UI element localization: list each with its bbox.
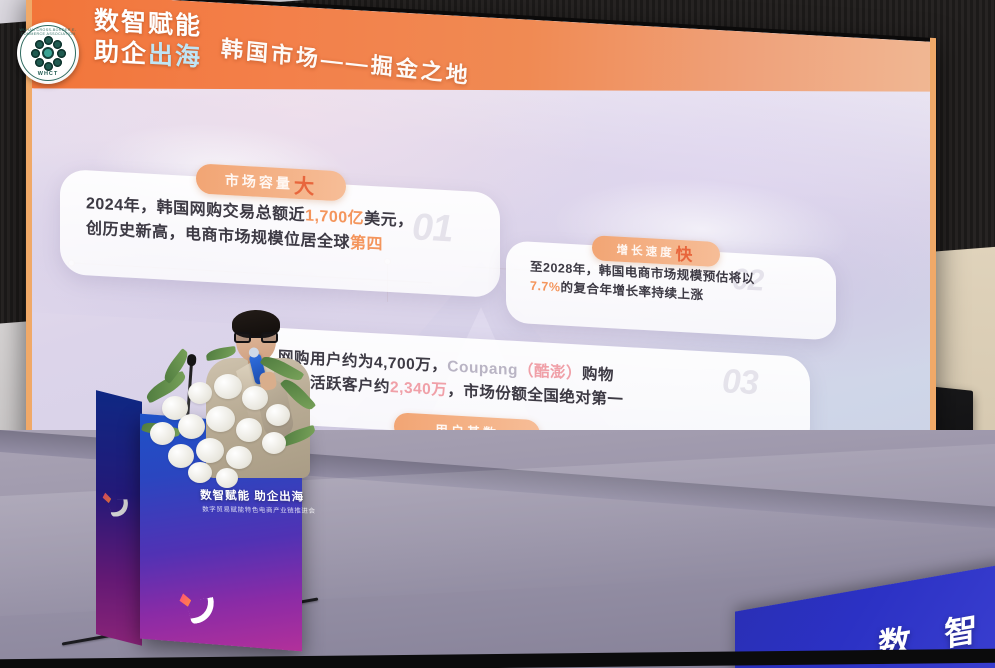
logo-emblem-icon — [31, 36, 65, 70]
flower-arrangement — [140, 352, 320, 492]
conference-stage-photo: 数智赋能 助企出海 韩国市场——掘金之地 市场容量大 01 2024年，韩国网购… — [0, 0, 995, 668]
flower — [168, 444, 194, 468]
flower — [236, 418, 262, 442]
logo-abbr: WHCT — [17, 71, 79, 77]
flower — [188, 462, 212, 483]
podium-subtitle: 数字贸易赋能特色电商产业链推进会 — [202, 503, 352, 515]
flower — [196, 438, 224, 463]
glasses-icon — [234, 332, 278, 343]
flower — [178, 414, 205, 439]
flower — [266, 404, 290, 426]
flower — [216, 468, 238, 488]
flower — [226, 446, 252, 469]
flower — [262, 432, 286, 454]
wave-logo — [179, 590, 218, 628]
flower — [188, 382, 212, 404]
flower — [206, 406, 235, 432]
podium-side-panel — [96, 390, 142, 646]
organization-logo: WUHAN CROSS-BORDER E-COMMERCE ASSOCIATIO… — [17, 22, 79, 84]
flower — [150, 422, 175, 445]
flower — [242, 386, 268, 410]
wave-logo — [103, 490, 132, 523]
flower — [214, 374, 242, 399]
